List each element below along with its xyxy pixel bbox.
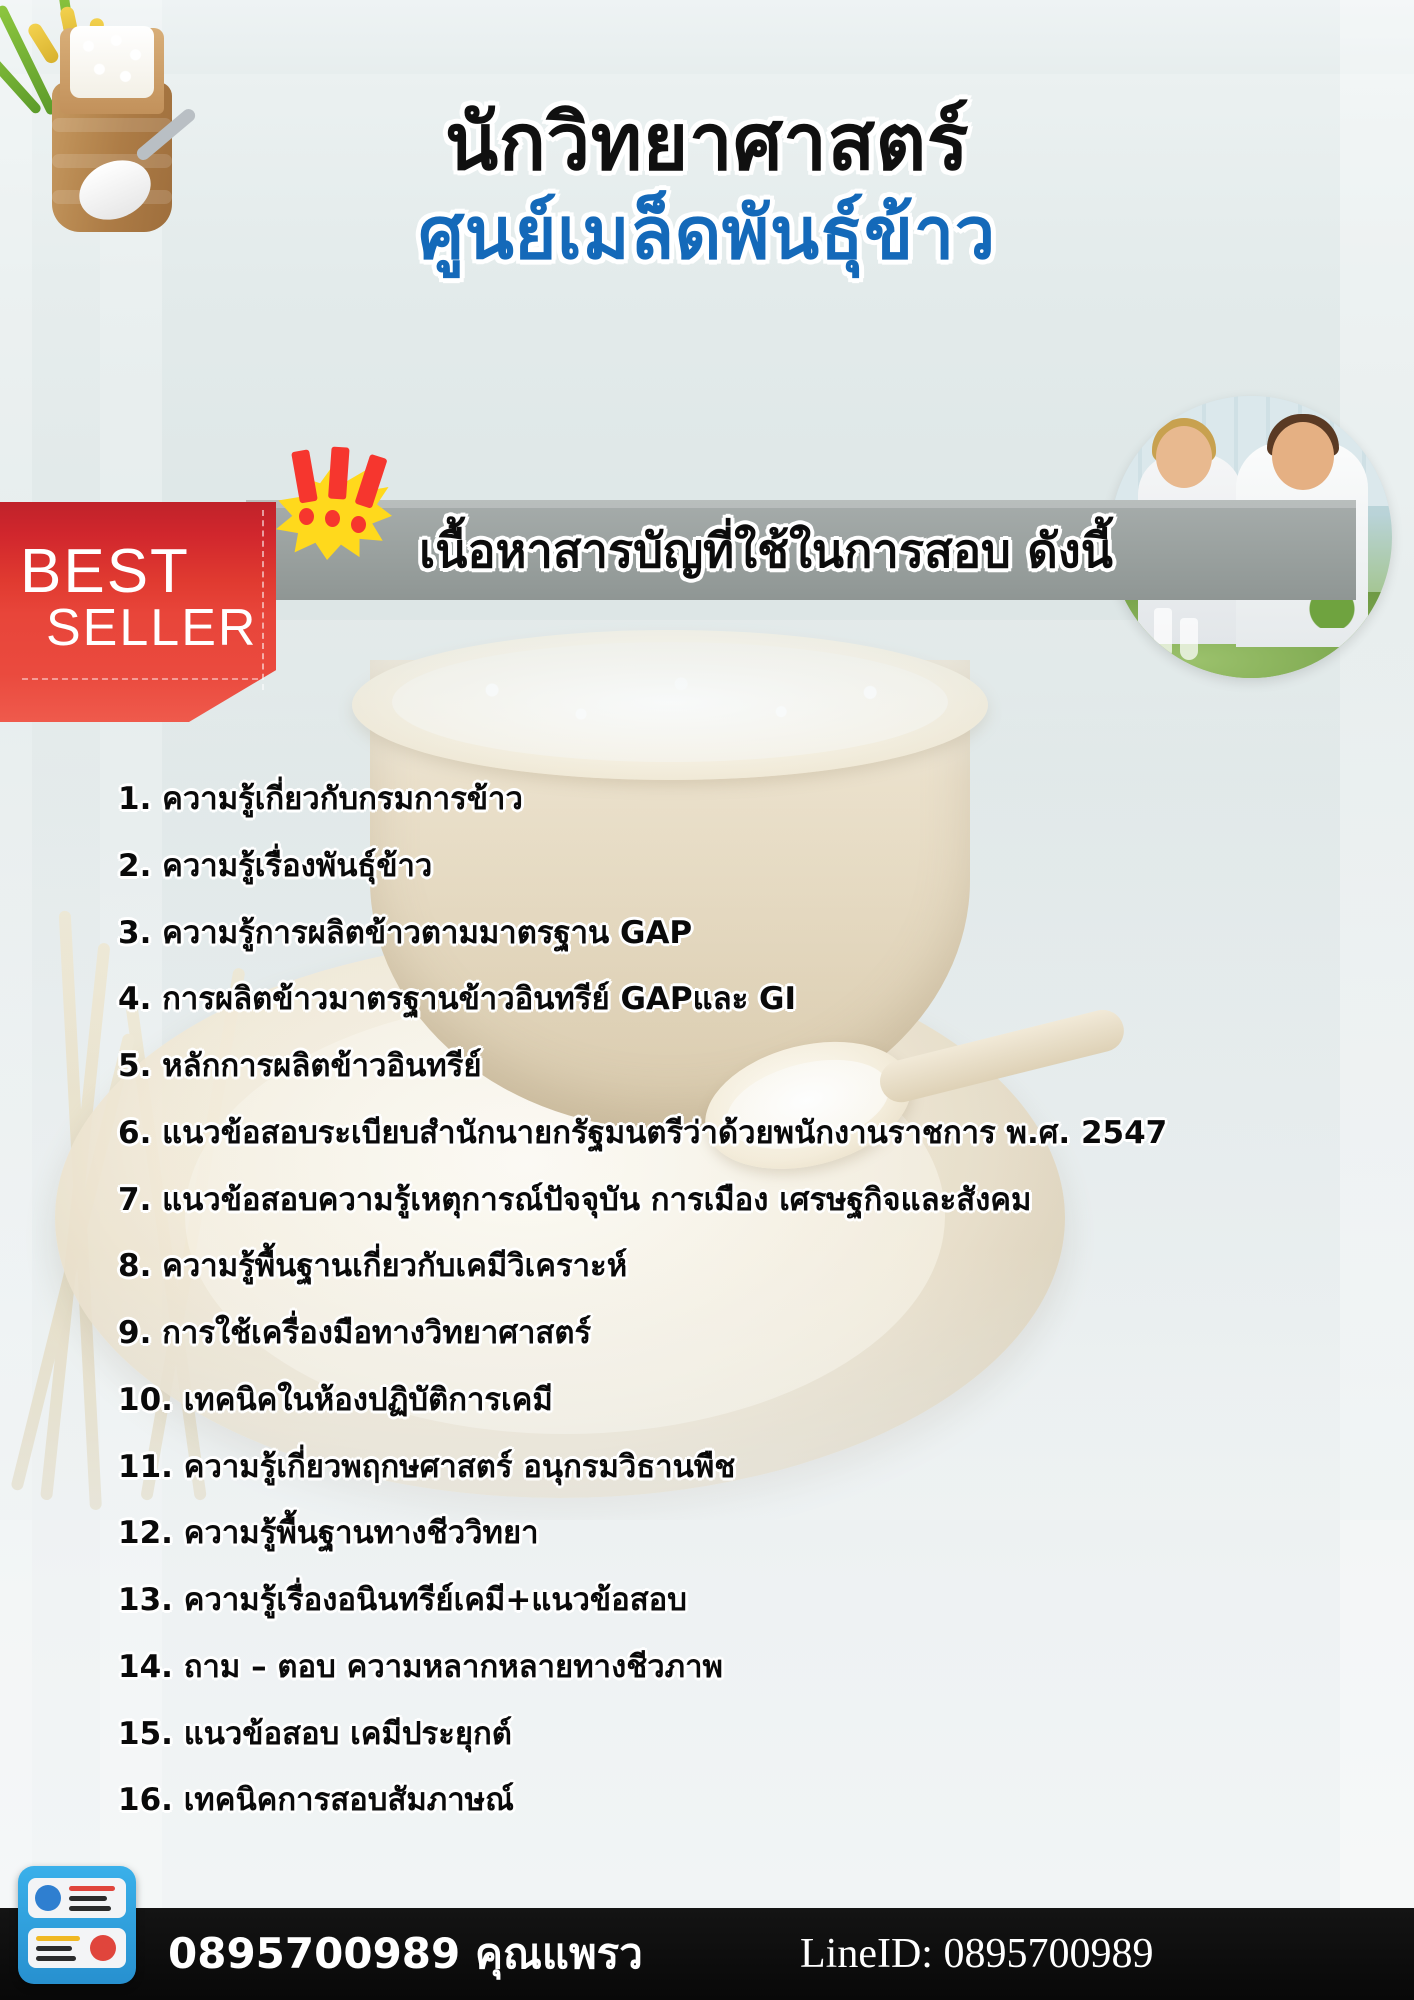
ribbon-dashed-line-horizontal — [22, 678, 258, 680]
best-label: BEST — [20, 536, 270, 607]
footer-lineid-text[interactable]: LineID: 0895700989 — [800, 1930, 1153, 1978]
list-item: 11. ความรู้เกี่ยวพฤกษศาสตร์ อนุกรมวิธานพ… — [118, 1448, 1348, 1487]
exclamation-bar-2 — [328, 446, 350, 499]
list-item: 8. ความรู้พื้นฐานเกี่ยวกับเคมีวิเคราะห์ — [118, 1247, 1348, 1286]
list-item: 13. ความรู้เรื่องอนินทรีย์เคมี+แนวข้อสอบ — [118, 1581, 1348, 1620]
contact-footer: 0895700989 คุณแพรว LineID: 0895700989 — [0, 1908, 1414, 2000]
page-title-primary: นักวิทยาศาสตร์ — [0, 104, 1414, 184]
seller-label: SELLER — [46, 598, 296, 658]
exclamation-dot-3 — [351, 516, 366, 533]
page-title-secondary: ศูนย์เมล็ดพันธุ์ข้าว — [0, 196, 1414, 272]
sack-rice — [70, 26, 154, 98]
contact-row-2 — [28, 1928, 126, 1968]
footer-phone-text[interactable]: 0895700989 คุณแพรว — [168, 1921, 643, 1987]
test-tube-1 — [1154, 608, 1172, 660]
list-item: 3. ความรู้การผลิตข้าวตามมาตรฐาน GAP — [118, 914, 1348, 953]
list-item: 2. ความรู้เรื่องพันธุ์ข้าว — [118, 847, 1348, 886]
list-item: 16. เทคนิคการสอบสัมภาษณ์ — [118, 1781, 1348, 1820]
starburst-icon — [270, 430, 400, 560]
list-item: 7. แนวข้อสอบความรู้เหตุการณ์ปัจจุบัน การ… — [118, 1181, 1348, 1220]
avatar-blue-icon — [35, 1885, 61, 1911]
list-item: 6. แนวข้อสอบระเบียบสำนักนายกรัฐมนตรีว่าด… — [118, 1114, 1348, 1153]
avatar-red-icon — [90, 1935, 116, 1961]
test-tube-2 — [1180, 618, 1198, 660]
scientist-woman-head — [1156, 426, 1212, 488]
list-item: 10. เทคนิคในห้องปฏิบัติการเคมี — [118, 1381, 1348, 1420]
list-item: 12. ความรู้พื้นฐานทางชีววิทยา — [118, 1514, 1348, 1553]
banner-text: เนื้อหาสารบัญที่ใช้ในการสอบ ดังนี้ — [246, 498, 1286, 602]
scientist-man-head — [1272, 422, 1334, 490]
list-item: 15. แนวข้อสอบ เคมีประยุกต์ — [118, 1715, 1348, 1754]
contact-lines-2 — [36, 1936, 80, 1961]
poster-title-block: นักวิทยาศาสตร์ ศูนย์เมล็ดพันธุ์ข้าว — [0, 104, 1414, 271]
content-list: 1. ความรู้เกี่ยวกับกรมการข้าว 2. ความรู้… — [118, 780, 1348, 1848]
contact-card-icon — [18, 1866, 138, 1986]
list-item: 9. การใช้เครื่องมือทางวิทยาศาสตร์ — [118, 1314, 1348, 1353]
list-item: 14. ถาม – ตอบ ความหลากหลายทางชีวภาพ — [118, 1648, 1348, 1687]
list-item: 1. ความรู้เกี่ยวกับกรมการข้าว — [118, 780, 1348, 819]
exclamation-dot-1 — [299, 508, 314, 525]
list-item: 4. การผลิตข้าวมาตรฐานข้าวอินทรีย์ GAPและ… — [118, 980, 1348, 1019]
poster-root: นักวิทยาศาสตร์ ศูนย์เมล็ดพันธุ์ข้าว เนื้… — [0, 0, 1414, 2000]
exclamation-dot-2 — [325, 510, 340, 527]
list-item: 5. หลักการผลิตข้าวอินทรีย์ — [118, 1047, 1348, 1086]
contact-row-1 — [28, 1878, 126, 1918]
exclamation-bar-1 — [291, 449, 318, 503]
background-top-band — [0, 0, 1414, 74]
contact-lines-1 — [69, 1886, 115, 1911]
